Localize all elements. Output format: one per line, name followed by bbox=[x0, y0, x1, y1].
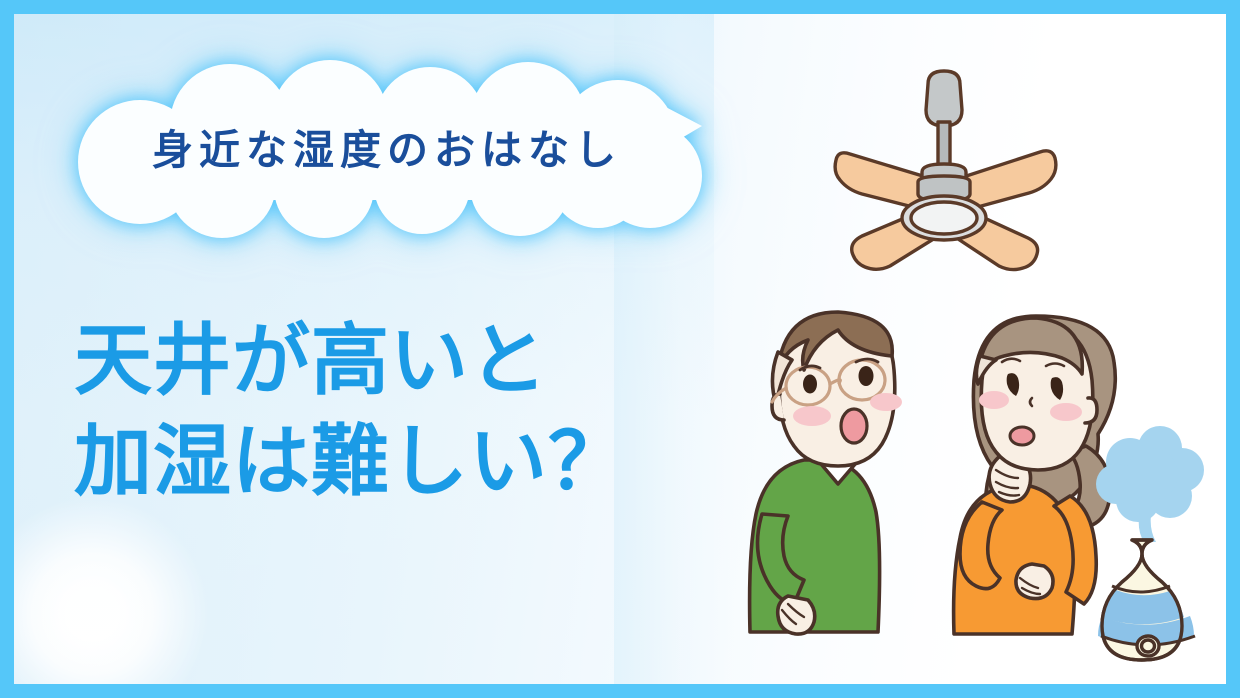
illustration-group bbox=[714, 14, 1226, 684]
cloud-banner: 身近な湿度のおはなし bbox=[62, 60, 702, 238]
page-headline: 天井が高いと 加湿は難しい？ bbox=[74, 310, 734, 513]
steam-cloud bbox=[1096, 426, 1204, 542]
headline-line-2: 加湿は難しい？ bbox=[74, 411, 734, 512]
man-figure bbox=[738, 308, 938, 638]
slide-canvas: 身近な湿度のおはなし 天井が高いと 加湿は難しい？ bbox=[0, 0, 1240, 698]
humidifier-icon bbox=[1086, 422, 1226, 662]
content-area: 身近な湿度のおはなし 天井が高いと 加湿は難しい？ bbox=[14, 14, 1226, 684]
ceiling-fan-icon bbox=[824, 58, 1074, 273]
headline-line-1: 天井が高いと bbox=[74, 310, 734, 411]
banner-text: 身近な湿度のおはなし bbox=[62, 60, 702, 238]
